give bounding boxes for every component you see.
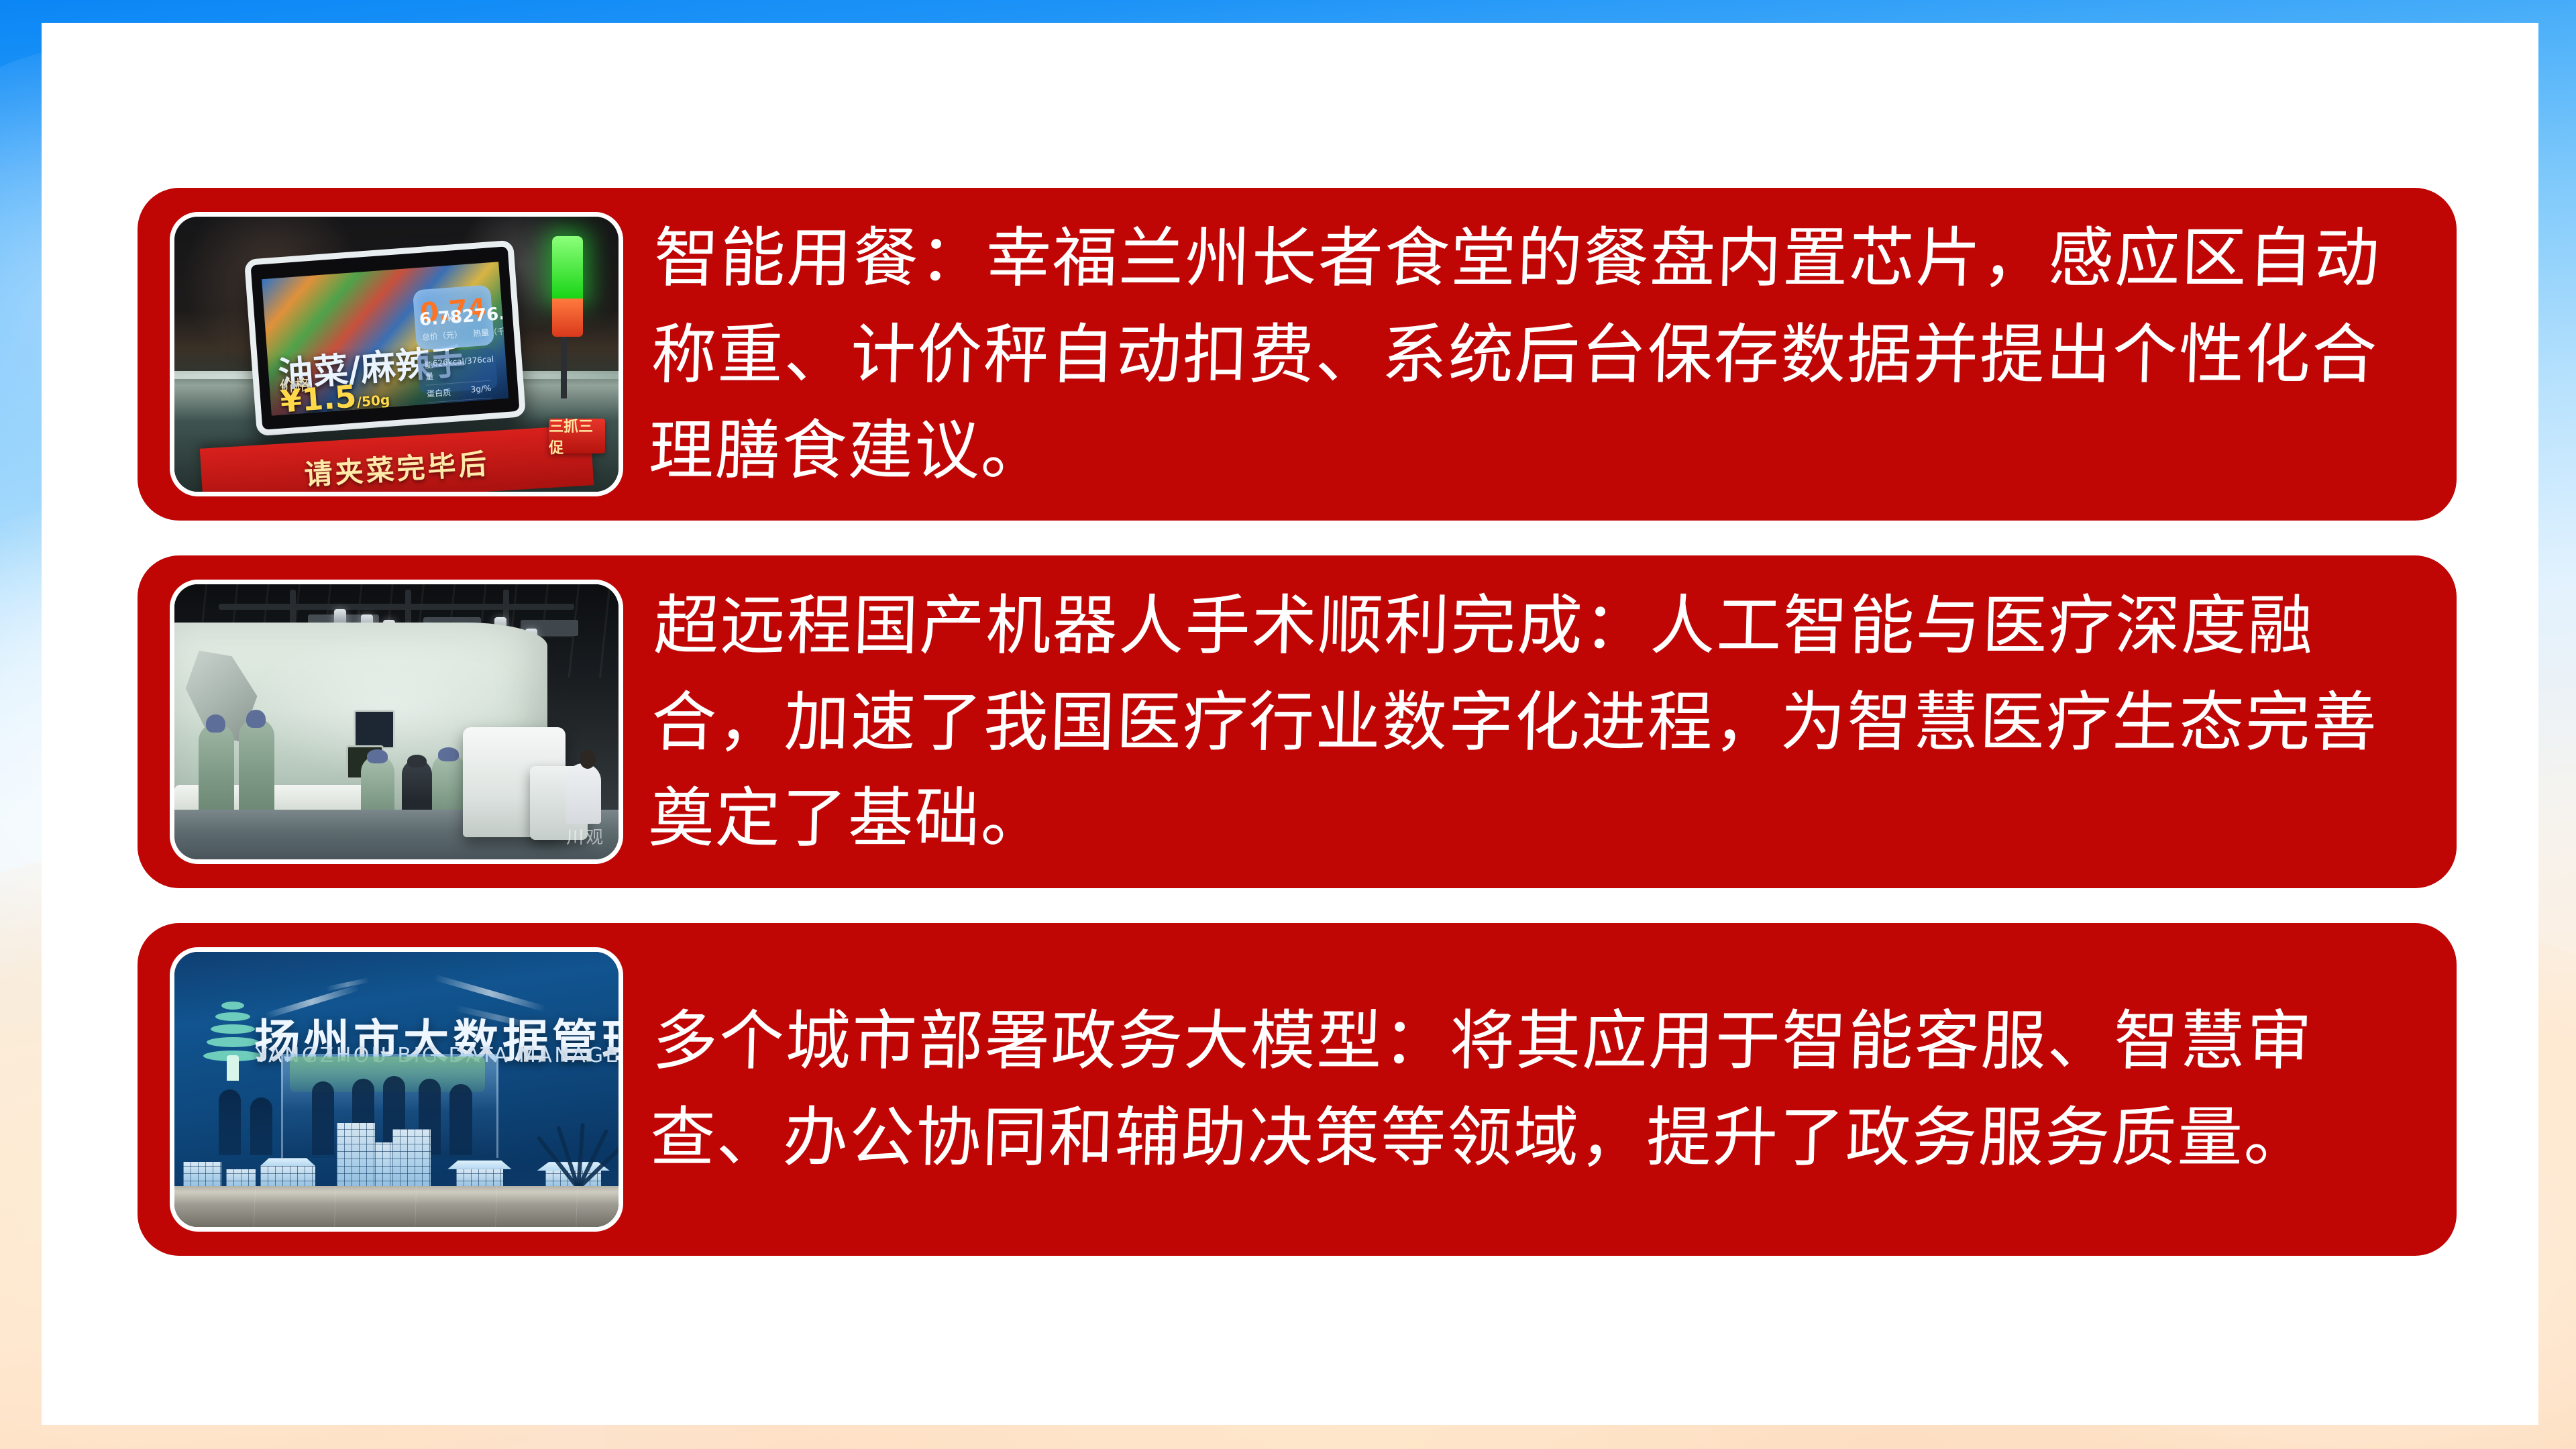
remote-robotic-surgery-hall-photo: 川观: [174, 584, 619, 859]
card-text-remote-surgery: 超远程国产机器人手术顺利完成：人工智能与医疗深度融合，加速了我国医疗行业数字化进…: [647, 578, 2437, 867]
potted-plant: [543, 1095, 609, 1188]
doctor-head: [580, 749, 596, 769]
calorie-label: 热量（千卡）: [472, 325, 508, 338]
operating-doctor: [566, 763, 601, 824]
surgical-team: [189, 698, 338, 813]
card-text-smart-dining: 智能用餐：幸福兰州长者食堂的餐盘内置芯片，感应区自动称重、计价秤自动扣费、系统后…: [647, 210, 2437, 499]
slide-canvas: 油菜/麻辣手 价格 ¥1.5/50g 0.74 kg 6.78: [0, 0, 2576, 1449]
dining-tablet-device: 油菜/麻辣手 价格 ¥1.5/50g 0.74 kg 6.78: [244, 240, 525, 437]
bullet-card-remote-surgery[interactable]: 川观 超远程国产机器人手术顺利完成：人工智能与医疗深度融合，加速了我国医疗行业数…: [138, 555, 2457, 888]
smart-dining-tablet-photo: 油菜/麻辣手 价格 ¥1.5/50g 0.74 kg 6.78: [174, 217, 619, 492]
staff-silhouette: [432, 753, 466, 818]
table-row: 能量 626kcal/376cal: [424, 352, 490, 386]
yangzhou-big-data-center-photo: 扬州市大数据管理中心 YANGZHOU BIG DATA MANAGEMENT …: [174, 952, 619, 1227]
lobby-floor: [174, 1186, 619, 1228]
calorie-value: 276.83: [461, 302, 508, 327]
campaign-stamp: 三抓三促: [549, 419, 605, 453]
bullet-card-list: 油菜/麻辣手 价格 ¥1.5/50g 0.74 kg 6.78: [138, 188, 2457, 1256]
bullet-card-smart-dining[interactable]: 油菜/麻辣手 价格 ¥1.5/50g 0.74 kg 6.78: [138, 188, 2457, 521]
nutrition-table: 能量 626kcal/376cal 蛋白质 3g/% 脂肪 3g/%: [417, 347, 498, 394]
table-row: 碳水化合物 3g/%: [429, 415, 494, 416]
thumbnail-big-data-center[interactable]: 扬州市大数据管理中心 YANGZHOU BIG DATA MANAGEMENT …: [170, 947, 623, 1232]
thumbnail-remote-surgery[interactable]: 川观: [170, 580, 623, 864]
bullet-card-government-model[interactable]: 扬州市大数据管理中心 YANGZHOU BIG DATA MANAGEMENT …: [138, 923, 2457, 1256]
watermark-label: 川观: [566, 824, 605, 849]
readout-metrics: 6.78 总价（元） 276.83 热量（千卡）: [419, 305, 490, 343]
thumbnail-smart-dining[interactable]: 油菜/麻辣手 价格 ¥1.5/50g 0.74 kg 6.78: [170, 212, 623, 496]
vitals-monitor: [354, 710, 395, 749]
price-value: ¥1.5/50g: [279, 376, 390, 416]
signal-tower-lamp: [552, 236, 583, 337]
total-price-label: 总价（元）: [421, 330, 462, 342]
tablet-screen: 油菜/麻辣手 价格 ¥1.5/50g 0.74 kg 6.78: [262, 262, 508, 417]
card-text-government-model: 多个城市部署政务大模型：将其应用于智能客服、智慧审查、办公协同和辅助决策等领域，…: [649, 993, 2436, 1185]
weight-readout-panel: 0.74 kg 6.78 总价（元） 276.83 热量（千: [412, 284, 494, 350]
total-price-value: 6.78: [419, 307, 463, 331]
